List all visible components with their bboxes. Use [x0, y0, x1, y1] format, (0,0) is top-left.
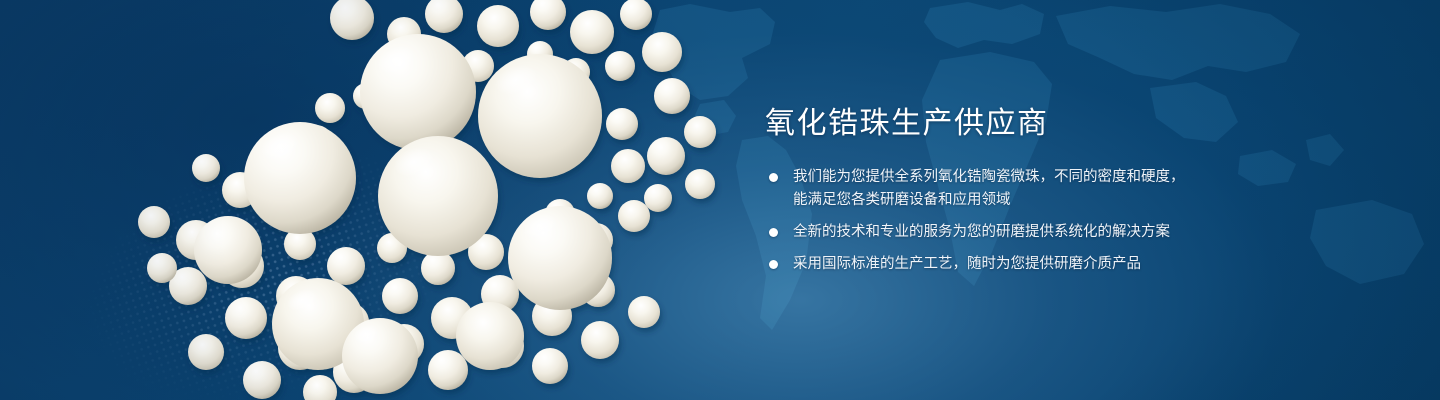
hero-banner: 氧化锆珠生产供应商 我们能为您提供全系列氧化锆陶瓷微珠，不同的密度和硬度， 能满… [0, 0, 1440, 400]
list-item: 采用国际标准的生产工艺，随时为您提供研磨介质产品 [765, 253, 1285, 276]
list-item: 我们能为您提供全系列氧化锆陶瓷微珠，不同的密度和硬度， 能满足您各类研磨设备和应… [765, 166, 1285, 212]
bullet-dot-icon [769, 228, 778, 237]
feature-list: 我们能为您提供全系列氧化锆陶瓷微珠，不同的密度和硬度， 能满足您各类研磨设备和应… [765, 166, 1285, 276]
banner-content: 氧化锆珠生产供应商 我们能为您提供全系列氧化锆陶瓷微珠，不同的密度和硬度， 能满… [765, 108, 1285, 276]
bullet-dot-icon [769, 260, 778, 269]
list-item-line-1: 我们能为您提供全系列氧化锆陶瓷微珠，不同的密度和硬度， [793, 169, 1185, 185]
list-item: 全新的技术和专业的服务为您的研磨提供系统化的解决方案 [765, 221, 1285, 244]
list-item-line-1: 采用国际标准的生产工艺，随时为您提供研磨介质产品 [793, 256, 1141, 272]
bullet-dot-icon [769, 173, 778, 182]
list-item-line-2: 能满足您各类研磨设备和应用领域 [793, 189, 1285, 212]
page-title: 氧化锆珠生产供应商 [765, 108, 1285, 140]
list-item-line-1: 全新的技术和专业的服务为您的研磨提供系统化的解决方案 [793, 224, 1170, 240]
